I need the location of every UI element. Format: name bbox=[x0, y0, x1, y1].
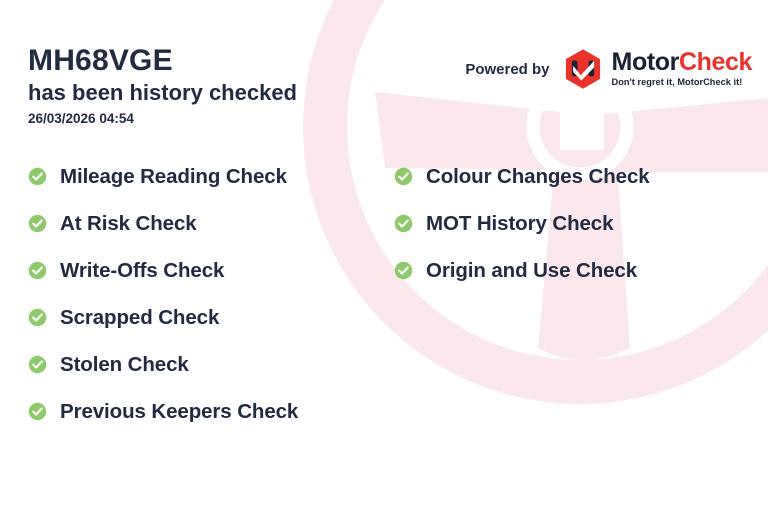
check-circle-icon bbox=[28, 214, 47, 233]
brand-name-part-1: Motor bbox=[612, 48, 679, 76]
motorcheck-logo-link[interactable]: MotorCheck Don't regret it, MotorCheck i… bbox=[562, 48, 752, 90]
check-circle-icon bbox=[28, 308, 47, 327]
check-timestamp: 26/03/2026 04:54 bbox=[28, 111, 297, 126]
check-list-item-scrapped-check[interactable]: Scrapped Check bbox=[28, 294, 298, 341]
powered-by-label: Powered by bbox=[465, 61, 549, 78]
check-list-item-label: Scrapped Check bbox=[60, 306, 219, 330]
check-circle-icon bbox=[394, 167, 413, 186]
page-title: has been history checked bbox=[28, 80, 297, 106]
check-list-item-label: Stolen Check bbox=[60, 353, 189, 377]
check-list-item-at-risk-check[interactable]: At Risk Check bbox=[28, 200, 298, 247]
check-list-item-label: Origin and Use Check bbox=[426, 259, 637, 283]
check-list-item-previous-keepers-check[interactable]: Previous Keepers Check bbox=[28, 388, 298, 435]
check-list-item-label: Write-Offs Check bbox=[60, 259, 224, 283]
check-list-item-write-offs-check[interactable]: Write-Offs Check bbox=[28, 247, 298, 294]
check-list-item-colour-changes-check[interactable]: Colour Changes Check bbox=[394, 153, 650, 200]
check-circle-icon bbox=[28, 261, 47, 280]
check-list-item-origin-and-use-check[interactable]: Origin and Use Check bbox=[394, 247, 650, 294]
motorcheck-hexagon-icon bbox=[562, 48, 604, 90]
check-circle-icon bbox=[28, 402, 47, 421]
header: MH68VGE has been history checked 26/03/2… bbox=[28, 44, 297, 126]
brand-name-part-2: Check bbox=[679, 48, 752, 76]
check-circle-icon bbox=[28, 355, 47, 374]
check-list-item-mileage-reading-check[interactable]: Mileage Reading Check bbox=[28, 153, 298, 200]
brand-lockup: Powered by MotorCheck Don't regret it, M… bbox=[465, 48, 752, 90]
brand-tagline: Don't regret it, MotorCheck it! bbox=[612, 78, 752, 87]
check-list-item-label: At Risk Check bbox=[60, 212, 197, 236]
check-list-item-stolen-check[interactable]: Stolen Check bbox=[28, 341, 298, 388]
vehicle-registration-plate: MH68VGE bbox=[28, 44, 297, 78]
history-check-banner: MH68VGE has been history checked 26/03/2… bbox=[0, 0, 768, 512]
check-circle-icon bbox=[28, 167, 47, 186]
check-list-item-label: Previous Keepers Check bbox=[60, 400, 298, 424]
checks-column-right: Colour Changes Check MOT History Check O… bbox=[394, 153, 650, 294]
check-list-item-label: MOT History Check bbox=[426, 212, 613, 236]
check-list-item-mot-history-check[interactable]: MOT History Check bbox=[394, 200, 650, 247]
motorcheck-wordmark: MotorCheck Don't regret it, MotorCheck i… bbox=[612, 50, 752, 87]
check-circle-icon bbox=[394, 214, 413, 233]
check-circle-icon bbox=[394, 261, 413, 280]
checks-column-left: Mileage Reading Check At Risk Check Writ… bbox=[28, 153, 298, 435]
check-list-item-label: Colour Changes Check bbox=[426, 165, 650, 189]
brand-name: MotorCheck bbox=[612, 50, 752, 75]
check-list-item-label: Mileage Reading Check bbox=[60, 165, 287, 189]
